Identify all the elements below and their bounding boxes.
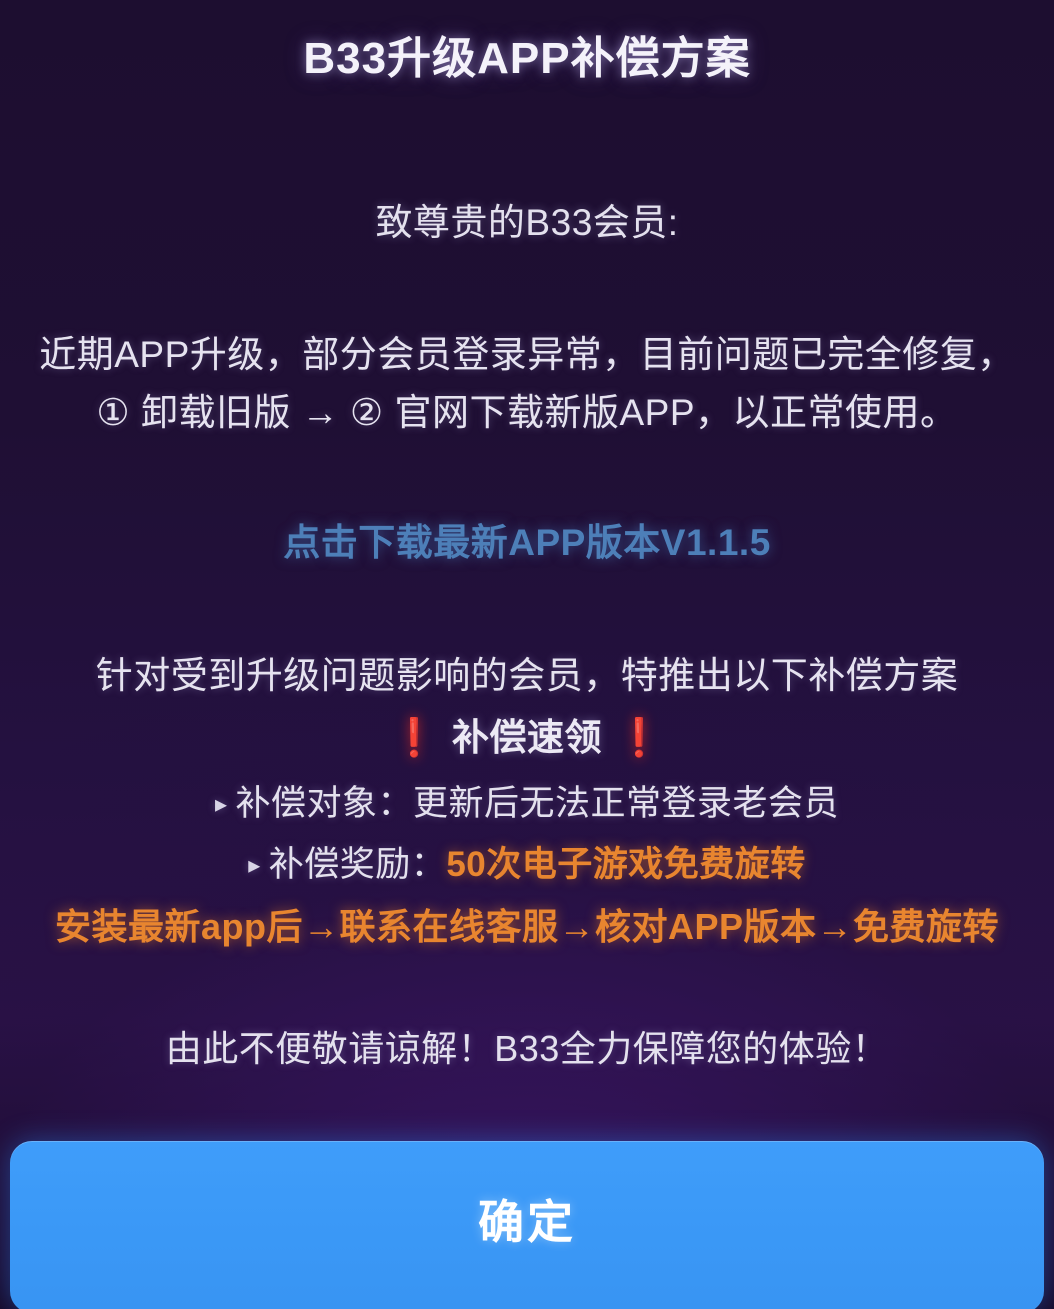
plan-intro-text: 针对受到升级问题影响的会员，特推出以下补偿方案	[0, 645, 1054, 699]
exclamation-icon-right: ❗	[602, 717, 677, 758]
confirm-button[interactable]: 确定	[10, 1141, 1044, 1309]
bullet-value-reward: 50次电子游戏免费旋转	[446, 845, 805, 884]
closing-text: 由此不便敬请谅解！B33全力保障您的体验！	[0, 1020, 1054, 1072]
promo-dialog: B33升级APP补偿方案 致尊贵的B33会员: 近期APP升级，部分会员登录异常…	[0, 0, 1054, 1309]
list-item: ▸补偿对象：更新后无法正常登录老会员	[0, 775, 1054, 826]
download-app-link[interactable]: 点击下载最新APP版本V1.1.5	[0, 512, 1054, 566]
exclamation-icon-left: ❗	[377, 717, 452, 758]
salutation-text: 致尊贵的B33会员:	[0, 192, 1054, 246]
page-title: B33升级APP补偿方案	[0, 22, 1054, 86]
triangle-bullet-icon: ▸	[215, 791, 236, 818]
grab-reward-label: 补偿速领	[452, 717, 602, 758]
bullet-label-target: 补偿对象：	[236, 784, 414, 823]
notice-line-2: ① 卸载旧版 → ② 官网下载新版APP，以正常使用。	[0, 382, 1054, 436]
bullet-value-target: 更新后无法正常登录老会员	[413, 784, 839, 823]
grab-reward-heading: ❗补偿速领❗	[0, 707, 1054, 761]
bullet-label-reward: 补偿奖励：	[269, 845, 447, 884]
triangle-bullet-icon: ▸	[248, 852, 269, 879]
list-item: ▸补偿奖励：50次电子游戏免费旋转	[0, 836, 1054, 887]
notice-line-1: 近期APP升级，部分会员登录异常，目前问题已完全修复，	[0, 324, 1054, 378]
redeem-flow-steps: 安装最新app后→联系在线客服→核对APP版本→免费旋转	[0, 898, 1054, 950]
